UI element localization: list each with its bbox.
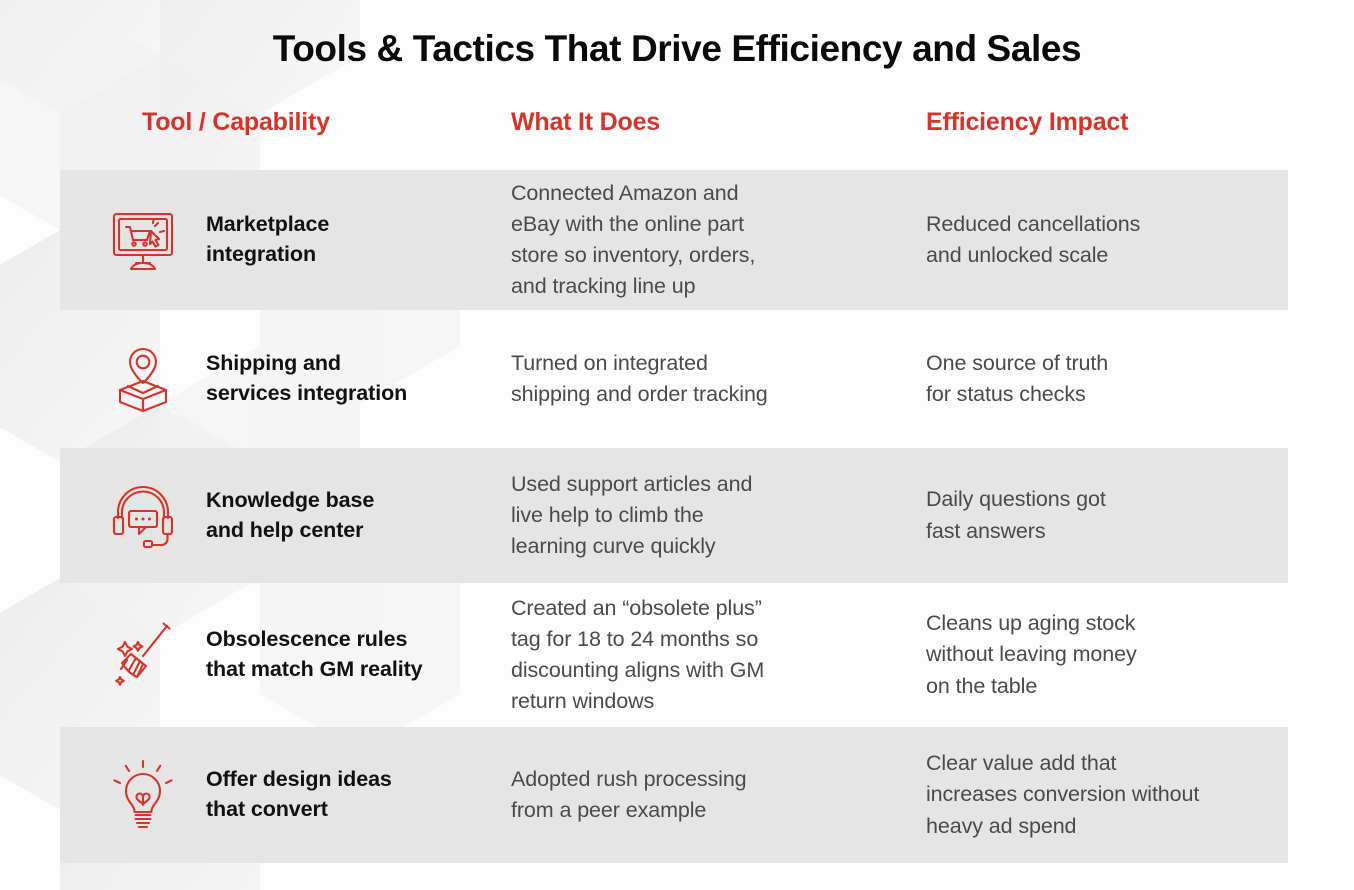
row-efficiency-impact-text: Cleans up aging stock without leaving mo… <box>926 608 1137 702</box>
table-row: Shipping and services integration Turned… <box>60 310 1288 448</box>
table-row: Obsolescence rules that match GM reality… <box>60 583 1288 727</box>
row-efficiency-impact-text: Reduced cancellations and unlocked scale <box>926 209 1140 271</box>
row-what-it-does-cell: Connected Amazon and eBay with the onlin… <box>511 170 926 310</box>
row-what-it-does-text: Created an “obsolete plus” tag for 18 to… <box>511 593 764 718</box>
row-what-it-does-cell: Turned on integrated shipping and order … <box>511 310 926 448</box>
package-location-pin-icon <box>85 341 201 417</box>
row-what-it-does-text: Turned on integrated shipping and order … <box>511 348 768 410</box>
row-tool-cell: Offer design ideas that convert <box>60 727 511 863</box>
row-tool-cell: Obsolescence rules that match GM reality <box>60 583 511 727</box>
row-tool-cell: Marketplace integration <box>60 170 511 310</box>
row-efficiency-impact-text: One source of truth for status checks <box>926 348 1108 410</box>
row-what-it-does-cell: Created an “obsolete plus” tag for 18 to… <box>511 583 926 727</box>
row-efficiency-impact-text: Daily questions got fast answers <box>926 484 1106 546</box>
table-row: Marketplace integration Connected Amazon… <box>60 170 1288 310</box>
row-tool-label: Offer design ideas that convert <box>206 765 392 824</box>
row-efficiency-impact-cell: Cleans up aging stock without leaving mo… <box>926 583 1288 727</box>
row-efficiency-impact-cell: Daily questions got fast answers <box>926 448 1288 583</box>
row-tool-label: Marketplace integration <box>206 210 329 269</box>
row-what-it-does-text: Connected Amazon and eBay with the onlin… <box>511 178 755 303</box>
row-tool-label: Knowledge base and help center <box>206 486 374 545</box>
table-row: Knowledge base and help center Used supp… <box>60 448 1288 583</box>
row-efficiency-impact-text: Clear value add that increases conversio… <box>926 748 1199 842</box>
monitor-shopping-cart-icon <box>85 202 201 278</box>
table-row: Offer design ideas that convert Adopted … <box>60 727 1288 863</box>
infographic-root: Tools & Tactics That Drive Efficiency an… <box>0 0 1354 890</box>
row-what-it-does-text: Used support articles and live help to c… <box>511 469 752 563</box>
row-what-it-does-cell: Adopted rush processing from a peer exam… <box>511 727 926 863</box>
row-what-it-does-text: Adopted rush processing from a peer exam… <box>511 764 747 826</box>
lightbulb-idea-icon <box>85 757 201 833</box>
row-efficiency-impact-cell: One source of truth for status checks <box>926 310 1288 448</box>
row-what-it-does-cell: Used support articles and live help to c… <box>511 448 926 583</box>
row-efficiency-impact-cell: Clear value add that increases conversio… <box>926 727 1288 863</box>
row-efficiency-impact-cell: Reduced cancellations and unlocked scale <box>926 170 1288 310</box>
row-tool-cell: Knowledge base and help center <box>60 448 511 583</box>
headset-support-icon <box>85 478 201 554</box>
broom-sweep-icon <box>85 617 201 693</box>
row-tool-label: Obsolescence rules that match GM reality <box>206 625 423 684</box>
rows-container: Marketplace integration Connected Amazon… <box>0 0 1354 890</box>
row-tool-label: Shipping and services integration <box>206 349 407 408</box>
row-tool-cell: Shipping and services integration <box>60 310 511 448</box>
